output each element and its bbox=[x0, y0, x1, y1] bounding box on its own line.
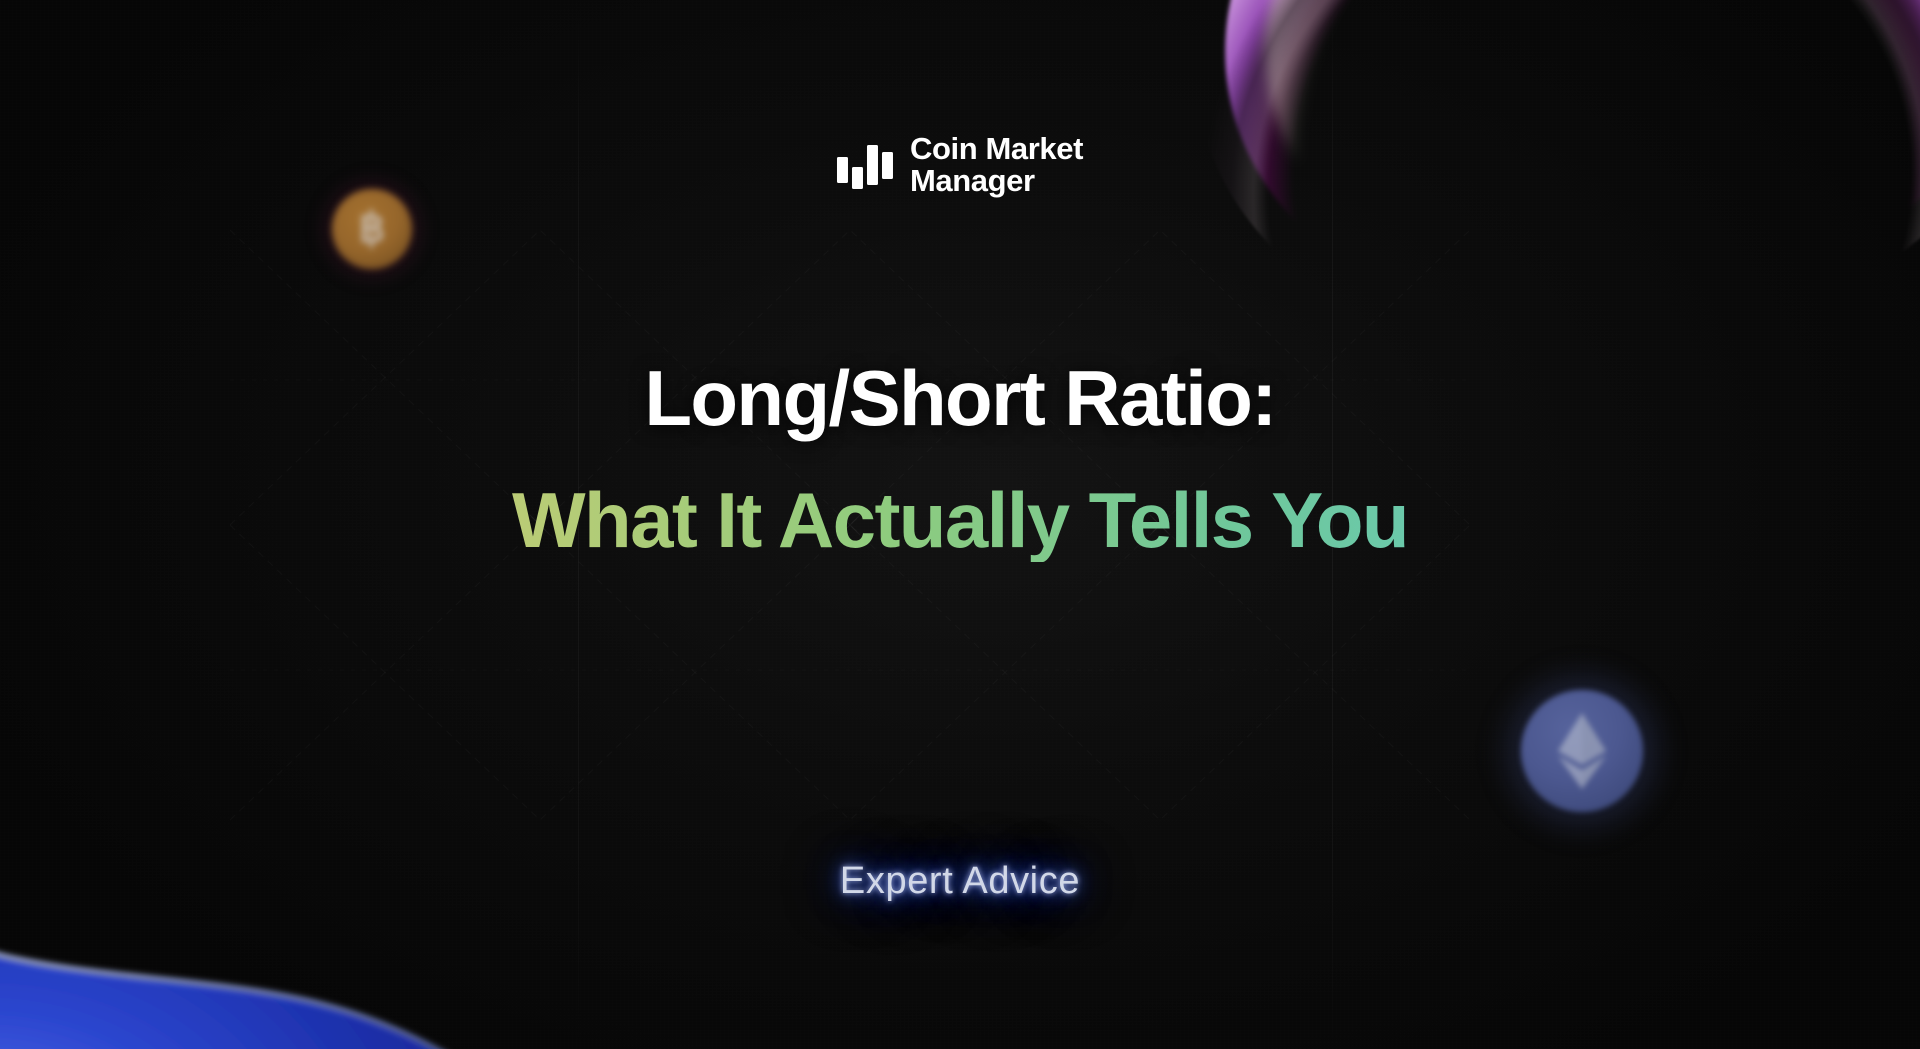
bitcoin-symbol: ฿ bbox=[359, 207, 386, 249]
headline-block: Long/Short Ratio: What It Actually Tells… bbox=[0, 356, 1920, 562]
expert-advice-label: Expert Advice bbox=[840, 860, 1080, 903]
ethereum-diamond-glyph bbox=[1556, 711, 1608, 791]
brand-logo[interactable]: Coin Market Manager bbox=[837, 133, 1083, 196]
headline-line-1: Long/Short Ratio: bbox=[0, 356, 1920, 440]
ethereum-coin-icon bbox=[1521, 690, 1643, 812]
candlestick-bars-icon bbox=[837, 141, 893, 189]
slide-canvas: ฿ Coin Market Manager Long/Short Ratio: … bbox=[0, 0, 1920, 1049]
brand-name: Coin Market Manager bbox=[910, 133, 1083, 196]
bitcoin-coin-icon: ฿ bbox=[332, 189, 412, 269]
expert-advice-block: Expert Advice bbox=[0, 860, 1920, 903]
headline-line-2: What It Actually Tells You bbox=[0, 478, 1920, 562]
